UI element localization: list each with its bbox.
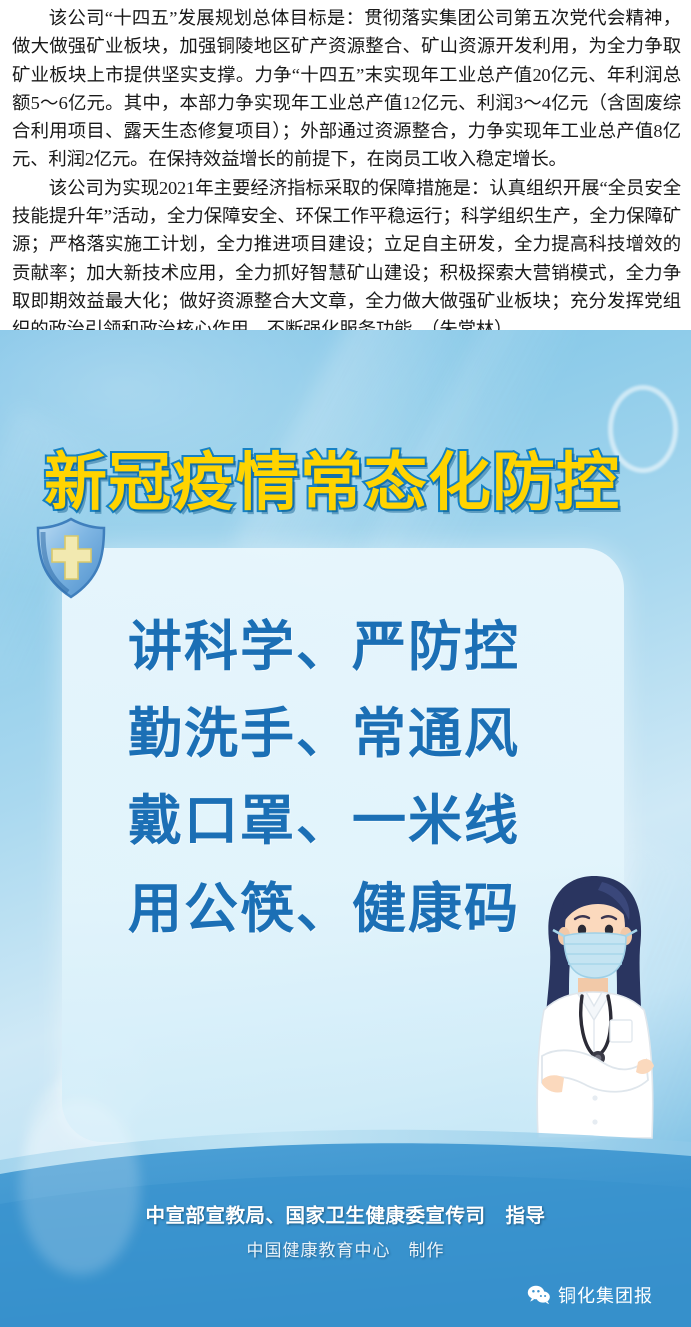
poster-credit-line-2: 中国健康教育中心 制作	[0, 1236, 691, 1261]
watermark-label: 铜化集团报	[558, 1282, 653, 1308]
wechat-watermark: 铜化集团报	[527, 1282, 653, 1308]
poster-credit-line-1: 中宣部宣教局、国家卫生健康委宣传司 指导	[0, 1199, 691, 1228]
slogan-line-2: 勤洗手、常通风	[128, 705, 598, 763]
article-paragraph-2: 该公司为实现2021年主要经济指标采取的保障措施是：认真组织开展“全员安全技能提…	[12, 174, 681, 344]
article-paragraph-1: 该公司“十四五”发展规划总体目标是：贯彻落实集团公司第五次党代会精神，做大做强矿…	[12, 4, 681, 174]
covid-prevention-poster: 新冠疫情常态化防控 讲科学、严防控 勤洗手、常通风 戴口罩、一米线 用公筷、健康…	[0, 330, 691, 1327]
slogan-line-3: 戴口罩、一米线	[128, 792, 598, 850]
wechat-icon	[527, 1285, 551, 1305]
article-text-block: 该公司“十四五”发展规划总体目标是：贯彻落实集团公司第五次党代会精神，做大做强矿…	[0, 0, 691, 330]
poster-title: 新冠疫情常态化防控	[44, 448, 644, 518]
shield-icon	[32, 516, 110, 600]
slogan-line-1: 讲科学、严防控	[128, 618, 598, 676]
